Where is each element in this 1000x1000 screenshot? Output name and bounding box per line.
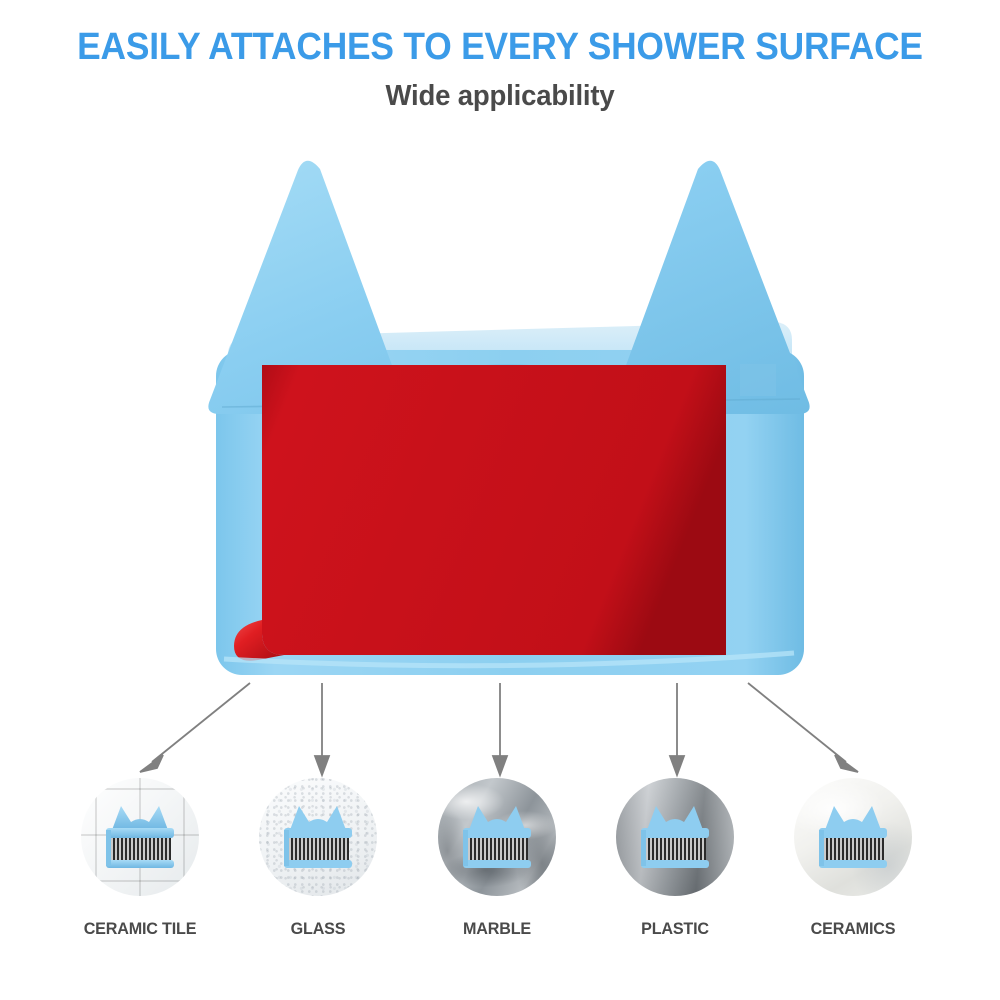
- surface-disc: [81, 778, 199, 896]
- arrow-glass: [315, 683, 329, 775]
- surface-disc: [616, 778, 734, 896]
- hero-product-image: [180, 150, 840, 695]
- surface-label: GLASS: [233, 919, 404, 939]
- page-title: EASILY ATTACHES TO EVERY SHOWER SURFACE: [35, 26, 965, 69]
- surface-swatch-row: CERAMIC TILE: [0, 775, 1000, 970]
- razor-holder-icon: [616, 778, 734, 896]
- arrow-plastic: [670, 683, 684, 775]
- surface-swatch-ceramics[interactable]: CERAMICS: [763, 775, 943, 970]
- arrow-marble: [493, 683, 507, 775]
- surface-swatch-marble[interactable]: MARBLE: [407, 775, 587, 970]
- infographic-canvas: EASILY ATTACHES TO EVERY SHOWER SURFACE …: [0, 0, 1000, 1000]
- surface-disc: [794, 778, 912, 896]
- razor-holder-icon: [794, 778, 912, 896]
- razor-holder-icon: [438, 778, 556, 896]
- holder-right-notch: [740, 364, 776, 396]
- surface-label: CERAMICS: [768, 919, 939, 939]
- surface-swatch-glass[interactable]: GLASS: [228, 775, 408, 970]
- connector-arrows: [0, 660, 1000, 790]
- razor-holder-icon: [81, 778, 199, 896]
- surface-label: MARBLE: [412, 919, 583, 939]
- razor-holder-icon: [259, 778, 377, 896]
- surface-swatch-plastic[interactable]: PLASTIC: [585, 775, 765, 970]
- arrow-ceramic-tile: [140, 683, 250, 772]
- adhesive-pad: [262, 365, 726, 655]
- arrow-ceramics: [748, 683, 858, 772]
- surface-swatch-ceramic-tile[interactable]: CERAMIC TILE: [50, 775, 230, 970]
- surface-disc: [259, 778, 377, 896]
- surface-label: CERAMIC TILE: [55, 919, 226, 939]
- surface-disc: [438, 778, 556, 896]
- page-subtitle: Wide applicability: [25, 80, 975, 113]
- surface-label: PLASTIC: [590, 919, 761, 939]
